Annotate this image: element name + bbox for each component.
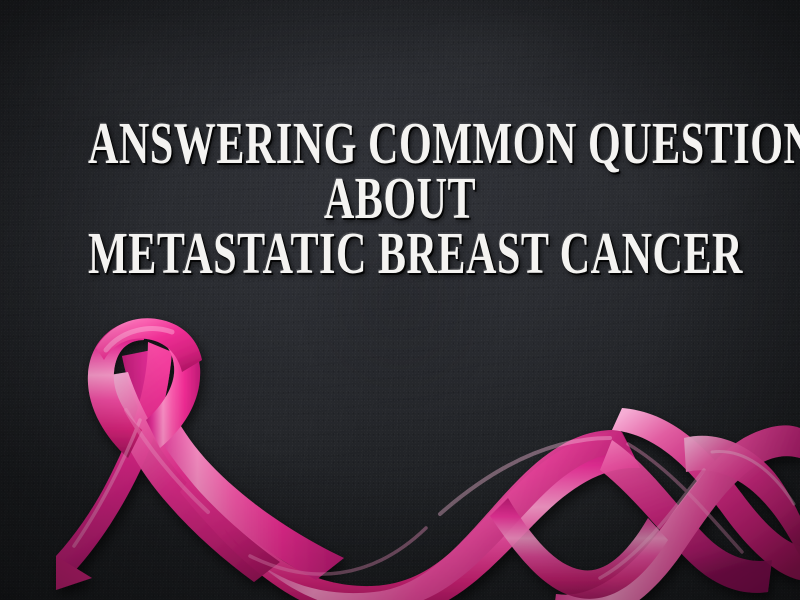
headline-line-2: ABOUT (88, 169, 712, 227)
headline-line-3: METASTATIC BREAST CANCER (88, 224, 712, 282)
background-vignette (0, 0, 800, 600)
headline-line-1: ANSWERING COMMON QUESTIONS (88, 114, 712, 172)
poster-canvas: ANSWERING COMMON QUESTIONS ABOUT METASTA… (0, 0, 800, 600)
page-title: ANSWERING COMMON QUESTIONS ABOUT METASTA… (0, 117, 800, 280)
